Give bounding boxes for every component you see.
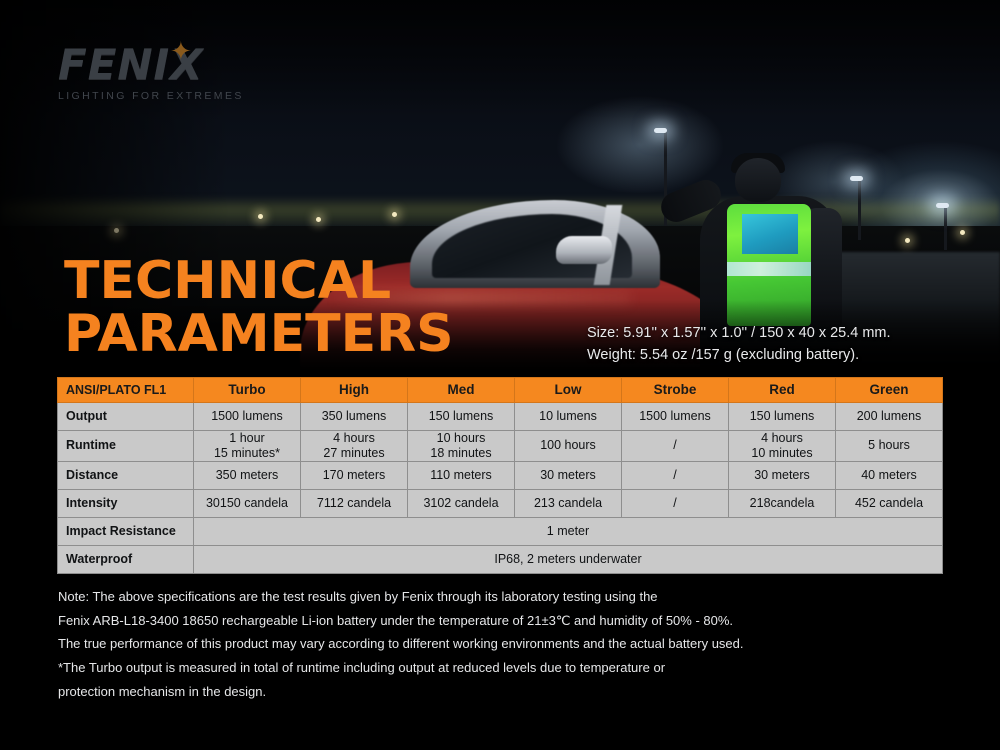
- cell-intensity-turbo: 30150 candela: [194, 489, 301, 517]
- cell-output-high: 350 lumens: [301, 403, 408, 431]
- table-header-row: ANSI/PLATO FL1 Turbo High Med Low Strobe…: [58, 378, 943, 403]
- cell-runtime-green: 5 hours: [836, 431, 943, 462]
- size-text: Size: 5.91'' x 1.57'' x 1.0'' / 150 x 40…: [587, 322, 891, 344]
- cell-distance-red: 30 meters: [729, 461, 836, 489]
- table-header-cell-med: Med: [408, 378, 515, 403]
- cell-distance-turbo: 350 meters: [194, 461, 301, 489]
- distant-light: [392, 212, 397, 217]
- table-row: Impact Resistance 1 meter: [58, 517, 943, 545]
- cell-intensity-green: 452 candela: [836, 489, 943, 517]
- cell-distance-low: 30 meters: [515, 461, 622, 489]
- cell-distance-high: 170 meters: [301, 461, 408, 489]
- page-title-line2: PARAMETERS: [64, 308, 454, 361]
- cell-distance-strobe: /: [622, 461, 729, 489]
- page-title: TECHNICAL PARAMETERS: [64, 255, 454, 361]
- street-lamp-head: [936, 203, 949, 208]
- cell-runtime-red: 4 hours10 minutes: [729, 431, 836, 462]
- distant-light: [258, 214, 263, 219]
- cell-intensity-red: 218candela: [729, 489, 836, 517]
- row-label-impact-resistance: Impact Resistance: [58, 517, 194, 545]
- page-title-line1: TECHNICAL: [64, 251, 391, 311]
- table-header-cell-low: Low: [515, 378, 622, 403]
- cell-impact-resistance-value: 1 meter: [194, 517, 943, 545]
- footnote-line-1: Note: The above specifications are the t…: [58, 585, 938, 609]
- footnote-line-2: Fenix ARB-L18-3400 18650 rechargeable Li…: [58, 609, 938, 633]
- table-row: Output 1500 lumens 350 lumens 150 lumens…: [58, 403, 943, 431]
- cell-distance-med: 110 meters: [408, 461, 515, 489]
- table-header-cell-red: Red: [729, 378, 836, 403]
- logo-wordmark: FENIX: [58, 44, 258, 86]
- row-label-output: Output: [58, 403, 194, 431]
- street-lamp-head: [654, 128, 667, 133]
- table-header-cell-green: Green: [836, 378, 943, 403]
- row-label-runtime: Runtime: [58, 431, 194, 462]
- star-icon: ✦: [170, 38, 192, 64]
- cell-intensity-strobe: /: [622, 489, 729, 517]
- fenix-logo: ✦ FENIX LIGHTING FOR EXTREMES: [58, 44, 258, 102]
- cell-distance-green: 40 meters: [836, 461, 943, 489]
- cell-intensity-high: 7112 candela: [301, 489, 408, 517]
- cell-runtime-low: 100 hours: [515, 431, 622, 462]
- cell-output-red: 150 lumens: [729, 403, 836, 431]
- cell-runtime-turbo: 1 hour15 minutes*: [194, 431, 301, 462]
- car-side-mirror: [556, 236, 612, 264]
- cell-intensity-low: 213 candela: [515, 489, 622, 517]
- dimensions-block: Size: 5.91'' x 1.57'' x 1.0'' / 150 x 40…: [587, 322, 891, 367]
- cell-runtime-high: 4 hours27 minutes: [301, 431, 408, 462]
- cell-output-low: 10 lumens: [515, 403, 622, 431]
- distant-light: [316, 217, 321, 222]
- vest-reflective-panel: [742, 214, 798, 254]
- cell-output-strobe: 1500 lumens: [622, 403, 729, 431]
- street-lamp-post: [858, 178, 861, 240]
- specifications-table: ANSI/PLATO FL1 Turbo High Med Low Strobe…: [57, 377, 943, 574]
- table-row: Runtime 1 hour15 minutes* 4 hours27 minu…: [58, 431, 943, 462]
- table-row: Intensity 30150 candela 7112 candela 310…: [58, 489, 943, 517]
- footnote-block: Note: The above specifications are the t…: [58, 585, 938, 703]
- table-header-cell-strobe: Strobe: [622, 378, 729, 403]
- cell-output-med: 150 lumens: [408, 403, 515, 431]
- vest-reflective-stripe: [727, 262, 811, 276]
- row-label-waterproof: Waterproof: [58, 545, 194, 573]
- street-lamp-post: [944, 206, 947, 250]
- cell-output-green: 200 lumens: [836, 403, 943, 431]
- footnote-line-3: The true performance of this product may…: [58, 632, 938, 656]
- logo-tagline: LIGHTING FOR EXTREMES: [58, 90, 258, 102]
- distant-light: [905, 238, 910, 243]
- table-body: Output 1500 lumens 350 lumens 150 lumens…: [58, 403, 943, 574]
- street-lamp-head: [850, 176, 863, 181]
- weight-text: Weight: 5.54 oz /157 g (excluding batter…: [587, 344, 891, 366]
- table-header-cell-standard: ANSI/PLATO FL1: [58, 378, 194, 403]
- cell-intensity-med: 3102 candela: [408, 489, 515, 517]
- row-label-distance: Distance: [58, 461, 194, 489]
- product-spec-page: ✦ FENIX LIGHTING FOR EXTREMES TECHNICAL …: [0, 0, 1000, 750]
- cell-output-turbo: 1500 lumens: [194, 403, 301, 431]
- table-header: ANSI/PLATO FL1 Turbo High Med Low Strobe…: [58, 378, 943, 403]
- cell-runtime-med: 10 hours18 minutes: [408, 431, 515, 462]
- officer-head: [735, 158, 781, 202]
- distant-light: [960, 230, 965, 235]
- row-label-intensity: Intensity: [58, 489, 194, 517]
- footnote-line-5: protection mechanism in the design.: [58, 680, 938, 704]
- table-header-cell-turbo: Turbo: [194, 378, 301, 403]
- table-row: Waterproof IP68, 2 meters underwater: [58, 545, 943, 573]
- cell-runtime-strobe: /: [622, 431, 729, 462]
- footnote-line-4: *The Turbo output is measured in total o…: [58, 656, 938, 680]
- cell-waterproof-value: IP68, 2 meters underwater: [194, 545, 943, 573]
- table-header-cell-high: High: [301, 378, 408, 403]
- table-row: Distance 350 meters 170 meters 110 meter…: [58, 461, 943, 489]
